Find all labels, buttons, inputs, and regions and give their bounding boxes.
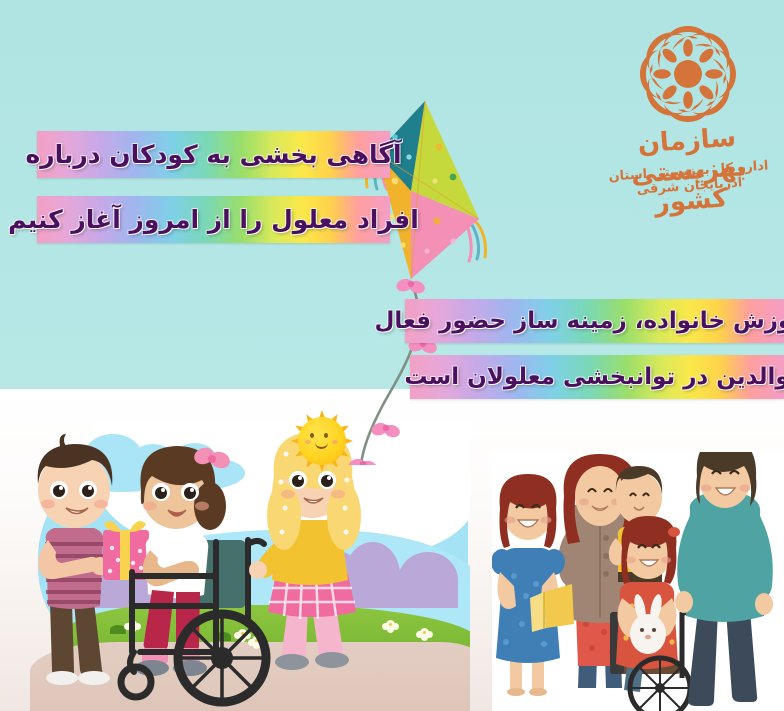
sun-cheek — [305, 440, 311, 444]
headline-banner-4: والدین در توانبخشی معلولان است — [410, 355, 784, 399]
headline-banner-3: آموزش خانواده، زمینه ساز حضور فعال — [405, 299, 784, 343]
headline-banner-2-text: افراد معلول را از امروز آغاز کنیم — [8, 205, 419, 234]
family-illustration — [492, 452, 784, 711]
organization-logo: سازمان بهزیستی کشور اداره کل بهزیستی است… — [596, 22, 782, 202]
family-characters — [492, 452, 784, 711]
headline-banner-1: آگاهی بخشی به کودکان درباره — [37, 131, 390, 178]
welfare-sun-logo-icon — [632, 22, 744, 126]
poster-canvas: سازمان بهزیستی کشور اداره کل بهزیستی است… — [0, 0, 784, 711]
wheel-spokes — [180, 616, 264, 700]
headline-banner-2: افراد معلول را از امروز آغاز کنیم — [37, 196, 390, 243]
gift-box — [103, 521, 149, 580]
sun-eye — [324, 433, 328, 438]
headline-banner-1-text: آگاهی بخشی به کودکان درباره — [25, 140, 401, 169]
kite-body — [377, 101, 479, 279]
boy-with-gift — [38, 434, 113, 685]
sun-eye — [310, 433, 314, 438]
headline-banner-4-text: والدین در توانبخشی معلولان است — [404, 364, 784, 390]
headline-banner-3-text: آموزش خانواده، زمینه ساز حضور فعال — [374, 308, 784, 334]
girl-in-wheelchair — [135, 445, 246, 676]
